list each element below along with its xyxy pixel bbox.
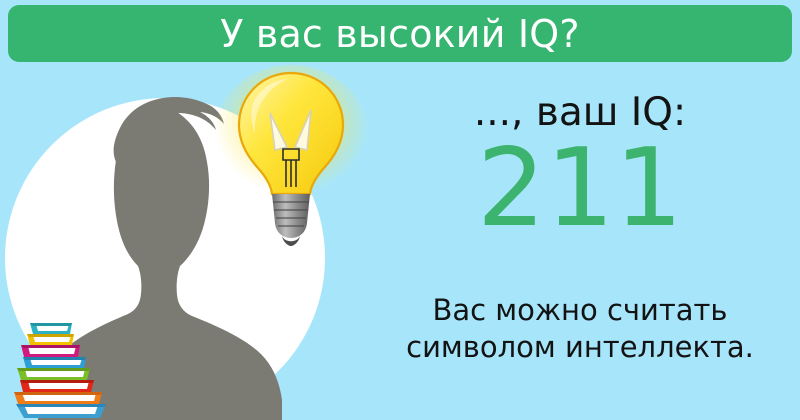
iq-score-value: 211 xyxy=(360,130,800,248)
list-item xyxy=(21,345,80,357)
book-stack xyxy=(10,318,115,420)
result-panel: ..., ваш IQ: 211 Вас можно считать симво… xyxy=(360,70,800,420)
page-title: У вас высокий IQ? xyxy=(220,15,580,53)
iq-caption-line-1: Вас можно считать xyxy=(360,292,800,329)
list-item xyxy=(27,334,74,345)
light-bulb-icon xyxy=(215,65,375,250)
list-item xyxy=(14,392,102,404)
iq-result-card: У вас высокий IQ? xyxy=(0,0,800,420)
list-item xyxy=(20,380,94,392)
list-item xyxy=(16,404,106,418)
list-item xyxy=(30,323,72,334)
iq-caption-line-2: символом интеллекта. xyxy=(360,329,800,366)
iq-caption: Вас можно считать символом интеллекта. xyxy=(360,292,800,366)
header-banner: У вас высокий IQ? xyxy=(8,5,792,62)
list-item xyxy=(17,368,90,380)
list-item xyxy=(23,357,86,368)
illustration-area xyxy=(0,60,400,420)
